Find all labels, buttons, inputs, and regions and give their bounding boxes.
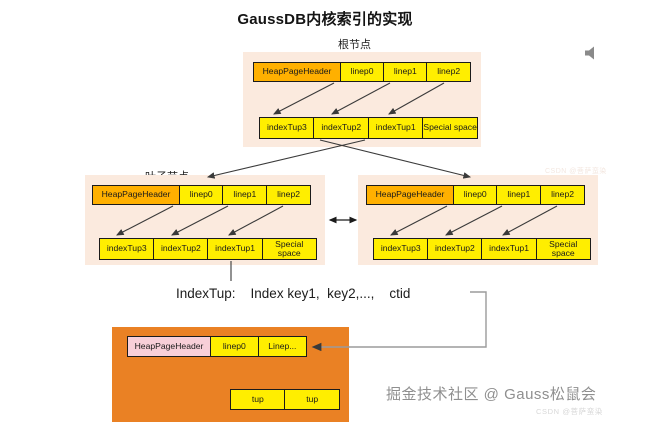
- leaf-right-linep2-cell[interactable]: linep2: [540, 185, 585, 205]
- leaf-left-linep-row: HeapPageHeader linep0 linep1 linep2: [92, 185, 311, 205]
- leaf-right-special-space-cell[interactable]: Special space: [536, 238, 591, 260]
- root-linep0-cell[interactable]: linep0: [340, 62, 385, 82]
- root-linep2-cell[interactable]: linep2: [426, 62, 471, 82]
- leaf-right-indextup-row: indexTup3 indexTup2 indexTup1 Special sp…: [373, 238, 591, 260]
- heap-linep0-cell[interactable]: linep0: [210, 336, 259, 357]
- leaf-right-indextup1-cell[interactable]: indexTup1: [481, 238, 536, 260]
- root-node-linep-row: HeapPageHeader linep0 linep1 linep2: [253, 62, 471, 82]
- leaf-left-indextup-row: indexTup3 indexTup2 indexTup1 Special sp…: [99, 238, 317, 260]
- indextup-formula: IndexTup: Index key1, key2,..., ctid: [176, 286, 410, 301]
- leaf-left-linep0-cell[interactable]: linep0: [179, 185, 224, 205]
- leaf-left-special-space-cell[interactable]: Special space: [262, 238, 317, 260]
- leaf-left-heap-page-header-cell[interactable]: HeapPageHeader: [92, 185, 180, 205]
- root-node-indextup-row: indexTup3 indexTup2 indexTup1 Special sp…: [259, 117, 478, 139]
- root-indextup2-cell[interactable]: indexTup2: [313, 117, 369, 139]
- root-heap-page-header-cell[interactable]: HeapPageHeader: [253, 62, 341, 82]
- leaf-left-linep2-cell[interactable]: linep2: [266, 185, 311, 205]
- root-linep1-cell[interactable]: linep1: [383, 62, 428, 82]
- root-indextup1-cell[interactable]: indexTup1: [368, 117, 424, 139]
- leaf-right-linep1-cell[interactable]: linep1: [496, 185, 541, 205]
- watermark-leaf: CSDN @菩萨蛮染: [545, 166, 607, 176]
- root-indextup3-cell[interactable]: indexTup3: [259, 117, 315, 139]
- leaf-left-indextup3-cell[interactable]: indexTup3: [99, 238, 154, 260]
- watermark-main: 掘金技术社区 @ Gauss松鼠会: [386, 383, 596, 404]
- root-special-space-cell[interactable]: Special space: [422, 117, 478, 139]
- heap-heap-page-header-cell[interactable]: HeapPageHeader: [127, 336, 211, 357]
- leaf-right-linep-row: HeapPageHeader linep0 linep1 linep2: [366, 185, 585, 205]
- heap-tup-cell-2[interactable]: tup: [284, 389, 340, 410]
- leaf-left-linep1-cell[interactable]: linep1: [222, 185, 267, 205]
- watermark-small: CSDN @菩萨蛮染: [536, 406, 603, 417]
- heap-linep-more-cell[interactable]: Linep...: [258, 336, 307, 357]
- page-title: GaussDB内核索引的实现: [0, 8, 650, 29]
- root-node-label: 根节点: [338, 36, 371, 52]
- leaf-right-indextup3-cell[interactable]: indexTup3: [373, 238, 428, 260]
- leaf-left-indextup2-cell[interactable]: indexTup2: [153, 238, 208, 260]
- leaf-right-indextup2-cell[interactable]: indexTup2: [427, 238, 482, 260]
- speaker-icon[interactable]: [583, 44, 605, 62]
- heap-page-tuple-row: tup tup: [230, 389, 340, 410]
- leaf-left-indextup1-cell[interactable]: indexTup1: [207, 238, 262, 260]
- leaf-right-linep0-cell[interactable]: linep0: [453, 185, 498, 205]
- heap-page-linep-row: HeapPageHeader linep0 Linep...: [127, 336, 307, 357]
- heap-tup-cell-1[interactable]: tup: [230, 389, 286, 410]
- leaf-right-heap-page-header-cell[interactable]: HeapPageHeader: [366, 185, 454, 205]
